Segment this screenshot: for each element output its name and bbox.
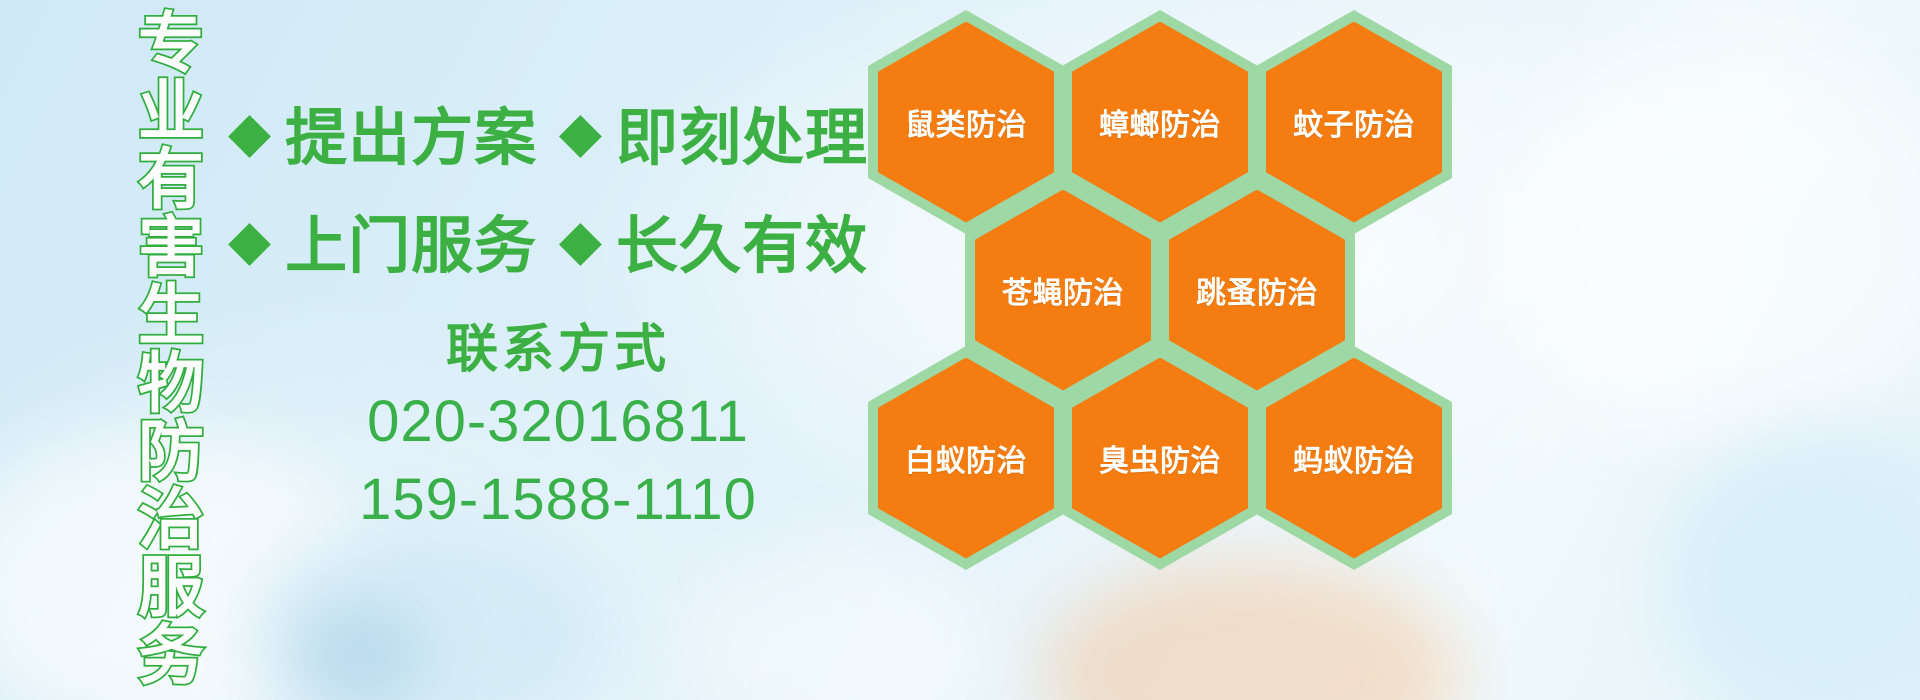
feature-label: 长久有效 bbox=[616, 195, 868, 285]
service-label: 白蚁防治 bbox=[905, 436, 1027, 480]
diamond-bullet-icon: ◆ bbox=[228, 104, 271, 160]
feature-item-onsite-service: ◆ 上门服务 bbox=[228, 195, 537, 285]
feature-list: ◆ 提出方案 ◆ 即刻处理 ◆ 上门服务 ◆ 长久有效 bbox=[228, 78, 868, 294]
contact-title: 联系方式 bbox=[228, 318, 888, 383]
background-blob bbox=[1500, 30, 1920, 450]
background-blob bbox=[690, 540, 990, 700]
feature-label: 提出方案 bbox=[285, 87, 537, 177]
background-blob bbox=[1040, 560, 1460, 700]
feature-label: 即刻处理 bbox=[616, 87, 868, 177]
hex-fill: 鼠类防治 bbox=[878, 22, 1054, 223]
hex-fill: 蚊子防治 bbox=[1266, 22, 1442, 223]
pest-control-banner: 专业有害生物防治服务 ◆ 提出方案 ◆ 即刻处理 ◆ 上门服务 ◆ 长久有效 bbox=[0, 0, 1920, 700]
phone-number-mobile[interactable]: 159-1588-1110 bbox=[228, 461, 888, 539]
contact-block: 联系方式 020-32016811 159-1588-1110 bbox=[228, 318, 888, 538]
service-label: 蟑螂防治 bbox=[1099, 100, 1221, 144]
hex-fill: 臭虫防治 bbox=[1072, 358, 1248, 559]
diamond-bullet-icon: ◆ bbox=[559, 212, 602, 268]
background-blob bbox=[250, 520, 610, 700]
hex-fill: 蟑螂防治 bbox=[1072, 22, 1248, 223]
hex-fill: 白蚁防治 bbox=[878, 358, 1054, 559]
service-label: 蚂蚁防治 bbox=[1293, 436, 1415, 480]
vertical-slogan: 专业有害生物防治服务 bbox=[104, 8, 200, 568]
hex-fill: 蚂蚁防治 bbox=[1266, 358, 1442, 559]
hex-fill: 跳蚤防治 bbox=[1169, 190, 1345, 391]
hex-fill: 苍蝇防治 bbox=[975, 190, 1151, 391]
feature-label: 上门服务 bbox=[285, 195, 537, 285]
service-label: 鼠类防治 bbox=[905, 100, 1027, 144]
feature-item-long-lasting: ◆ 长久有效 bbox=[559, 195, 868, 285]
service-honeycomb: 鼠类防治 蟑螂防治 蚊子防治 苍蝇防治 跳蚤防治 白蚁防治 bbox=[862, 4, 1462, 564]
diamond-bullet-icon: ◆ bbox=[559, 104, 602, 160]
phone-number-landline[interactable]: 020-32016811 bbox=[228, 383, 888, 461]
background-blob bbox=[300, 610, 420, 700]
service-label: 跳蚤防治 bbox=[1196, 268, 1318, 312]
diamond-bullet-icon: ◆ bbox=[228, 212, 271, 268]
service-label: 苍蝇防治 bbox=[1002, 268, 1124, 312]
feature-row: ◆ 上门服务 ◆ 长久有效 bbox=[228, 186, 868, 294]
feature-row: ◆ 提出方案 ◆ 即刻处理 bbox=[228, 78, 868, 186]
background-blob bbox=[1660, 430, 1920, 700]
feature-item-immediate-handling: ◆ 即刻处理 bbox=[559, 87, 868, 177]
service-label: 蚊子防治 bbox=[1293, 100, 1415, 144]
service-label: 臭虫防治 bbox=[1099, 436, 1221, 480]
feature-item-propose-plan: ◆ 提出方案 bbox=[228, 87, 537, 177]
